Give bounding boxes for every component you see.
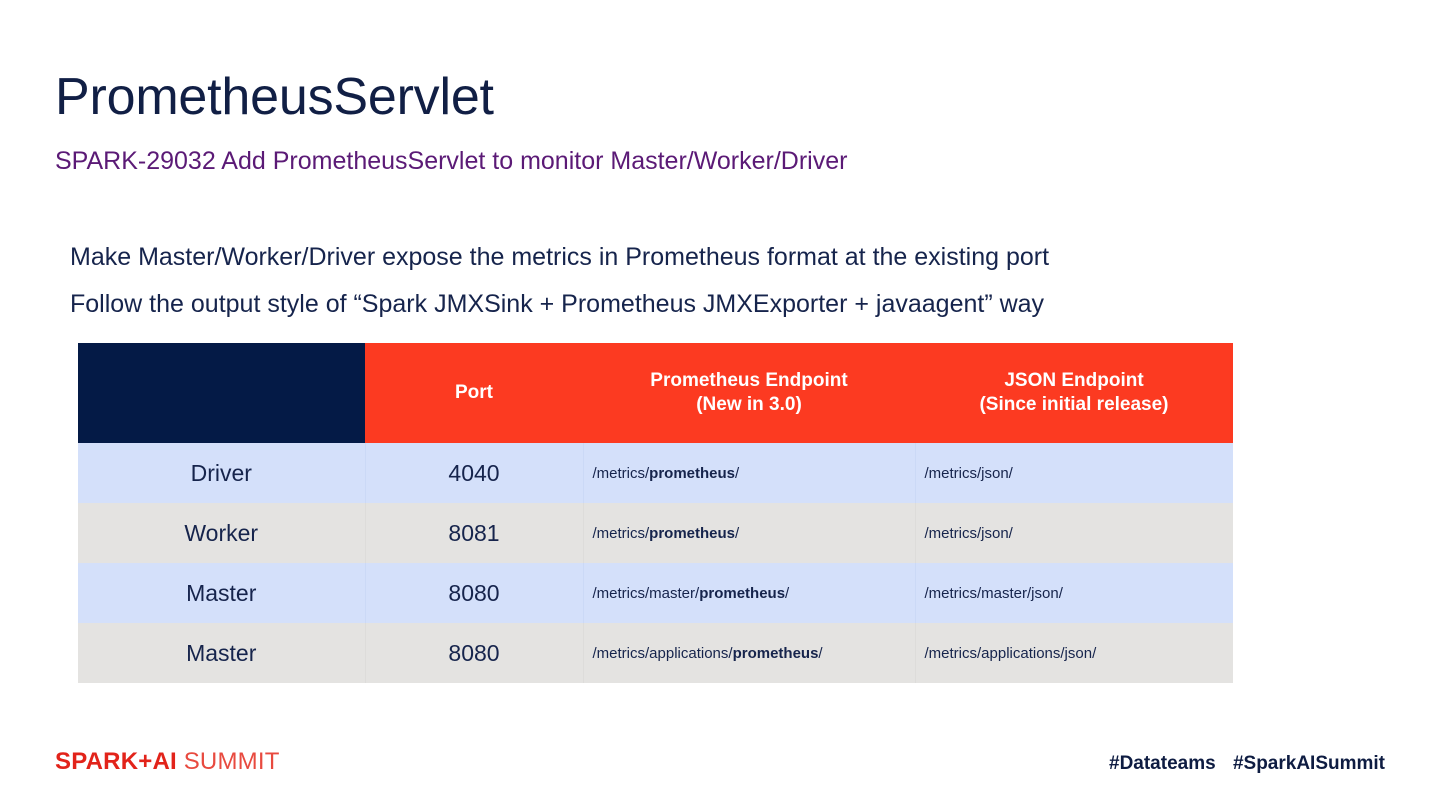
endpoint-suffix: / — [785, 585, 789, 602]
cell-prometheus-endpoint: /metrics/prometheus/ — [583, 443, 915, 503]
page-subtitle: SPARK-29032 Add PrometheusServlet to mon… — [55, 145, 847, 177]
column-header-port-label: Port — [365, 381, 583, 405]
column-header-json-endpoint: JSON Endpoint (Since initial release) — [915, 343, 1233, 443]
body-text-block: Make Master/Worker/Driver expose the met… — [70, 234, 1370, 328]
column-header-json-line2: (Since initial release) — [915, 393, 1233, 417]
table-row: Worker 8081 /metrics/prometheus/ /metric… — [78, 503, 1233, 563]
endpoint-suffix: / — [735, 525, 739, 542]
cell-component: Driver — [78, 443, 365, 503]
cell-port: 4040 — [365, 443, 583, 503]
cell-port: 8080 — [365, 623, 583, 683]
hashtag-sparkaisummit: #SparkAISummit — [1233, 753, 1385, 774]
cell-port: 8081 — [365, 503, 583, 563]
endpoint-highlight: prometheus — [649, 525, 735, 542]
page-title: PrometheusServlet — [55, 66, 494, 128]
body-line-2: Follow the output style of “Spark JMXSin… — [70, 281, 1370, 328]
column-header-component — [78, 343, 365, 443]
hashtag-datateams: #Datateams — [1109, 753, 1216, 774]
cell-component: Master — [78, 563, 365, 623]
logo-light-text: SUMMIT — [177, 748, 280, 775]
endpoint-prefix: /metrics/applications/ — [593, 645, 733, 662]
table-row: Master 8080 /metrics/applications/promet… — [78, 623, 1233, 683]
table-header: Port Prometheus Endpoint (New in 3.0) JS… — [78, 343, 1233, 443]
table-body: Driver 4040 /metrics/prometheus/ /metric… — [78, 443, 1233, 683]
endpoint-prefix: /metrics/ — [593, 465, 650, 482]
body-line-1: Make Master/Worker/Driver expose the met… — [70, 234, 1370, 281]
cell-json-endpoint: /metrics/json/ — [915, 503, 1233, 563]
cell-port: 8080 — [365, 563, 583, 623]
cell-component: Worker — [78, 503, 365, 563]
column-header-port: Port — [365, 343, 583, 443]
endpoint-suffix: / — [818, 645, 822, 662]
logo-bold-text: SPARK+AI — [55, 748, 177, 775]
cell-prometheus-endpoint: /metrics/applications/prometheus/ — [583, 623, 915, 683]
cell-json-endpoint: /metrics/master/json/ — [915, 563, 1233, 623]
column-header-json-line1: JSON Endpoint — [915, 369, 1233, 393]
cell-prometheus-endpoint: /metrics/master/prometheus/ — [583, 563, 915, 623]
endpoints-table: Port Prometheus Endpoint (New in 3.0) JS… — [78, 343, 1233, 683]
endpoint-prefix: /metrics/master/ — [593, 585, 700, 602]
table-row: Driver 4040 /metrics/prometheus/ /metric… — [78, 443, 1233, 503]
cell-json-endpoint: /metrics/applications/json/ — [915, 623, 1233, 683]
endpoint-highlight: prometheus — [733, 645, 819, 662]
endpoint-highlight: prometheus — [699, 585, 785, 602]
cell-prometheus-endpoint: /metrics/prometheus/ — [583, 503, 915, 563]
column-header-prometheus-endpoint: Prometheus Endpoint (New in 3.0) — [583, 343, 915, 443]
column-header-prometheus-line2: (New in 3.0) — [583, 393, 915, 417]
table-row: Master 8080 /metrics/master/prometheus/ … — [78, 563, 1233, 623]
spark-ai-summit-logo: SPARK+AI SUMMIT — [55, 748, 280, 776]
endpoint-highlight: prometheus — [649, 465, 735, 482]
cell-component: Master — [78, 623, 365, 683]
cell-json-endpoint: /metrics/json/ — [915, 443, 1233, 503]
endpoint-suffix: / — [735, 465, 739, 482]
endpoint-prefix: /metrics/ — [593, 525, 650, 542]
column-header-prometheus-line1: Prometheus Endpoint — [583, 369, 915, 393]
slide-root: PrometheusServlet SPARK-29032 Add Promet… — [0, 0, 1440, 810]
footer-hashtags: #Datateams #SparkAISummit — [1109, 752, 1385, 776]
table-header-row: Port Prometheus Endpoint (New in 3.0) JS… — [78, 343, 1233, 443]
